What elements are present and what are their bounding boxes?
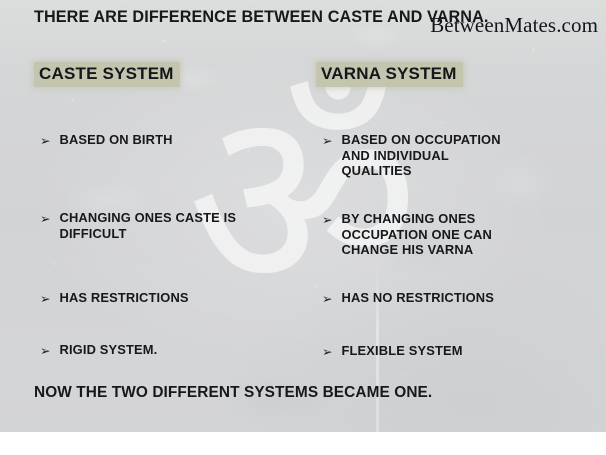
bullet-text: HAS NO RESTRICTIONS <box>341 290 494 306</box>
list-item: ➢ BASED ON BIRTH <box>40 132 302 148</box>
arrow-bullet-icon: ➢ <box>322 133 332 149</box>
bullet-text: BASED ON BIRTH <box>59 132 172 148</box>
bullet-text: BY CHANGING ONES OCCUPATION ONE CAN CHAN… <box>341 211 491 258</box>
slide-content: THERE ARE DIFFERENCE BETWEEN CASTE AND V… <box>0 0 606 455</box>
brand-watermark: BetweenMates.com <box>430 13 598 38</box>
column-varna-system: VARNA SYSTEM ➢ BASED ON OCCUPATION AND I… <box>316 62 591 87</box>
list-item: ➢ BASED ON OCCUPATION AND INDIVIDUAL QUA… <box>322 132 591 179</box>
brand-bar <box>0 432 606 455</box>
arrow-bullet-icon: ➢ <box>40 211 50 227</box>
bullet-text: FLEXIBLE SYSTEM <box>341 343 462 359</box>
column-caste-system: CASTE SYSTEM ➢ BASED ON BIRTH ➢ CHANGING… <box>34 62 302 87</box>
bullet-text: RIGID SYSTEM. <box>59 342 157 358</box>
list-item: ➢ HAS RESTRICTIONS <box>40 290 302 306</box>
list-item: ➢ RIGID SYSTEM. <box>40 342 302 358</box>
arrow-bullet-icon: ➢ <box>40 133 50 149</box>
bullet-text: CHANGING ONES CASTE IS DIFFICULT <box>59 210 236 241</box>
closing-statement: NOW THE TWO DIFFERENT SYSTEMS BECAME ONE… <box>34 384 432 402</box>
list-item: ➢ HAS NO RESTRICTIONS <box>322 290 591 306</box>
bullet-text: BASED ON OCCUPATION AND INDIVIDUAL QUALI… <box>341 132 500 179</box>
arrow-bullet-icon: ➢ <box>322 344 332 360</box>
list-item: ➢ BY CHANGING ONES OCCUPATION ONE CAN CH… <box>322 211 591 258</box>
column-heading-varna: VARNA SYSTEM <box>316 62 463 87</box>
bullet-text: HAS RESTRICTIONS <box>59 290 188 306</box>
list-item: ➢ FLEXIBLE SYSTEM <box>322 343 591 359</box>
arrow-bullet-icon: ➢ <box>322 212 332 228</box>
arrow-bullet-icon: ➢ <box>40 343 50 359</box>
slide-canvas: ॐ THERE ARE DIFFERENCE BETWEEN CASTE AND… <box>0 0 606 455</box>
slide-title: THERE ARE DIFFERENCE BETWEEN CASTE AND V… <box>34 8 488 27</box>
arrow-bullet-icon: ➢ <box>40 291 50 307</box>
column-heading-caste: CASTE SYSTEM <box>34 62 180 87</box>
list-item: ➢ CHANGING ONES CASTE IS DIFFICULT <box>40 210 302 241</box>
arrow-bullet-icon: ➢ <box>322 291 332 307</box>
